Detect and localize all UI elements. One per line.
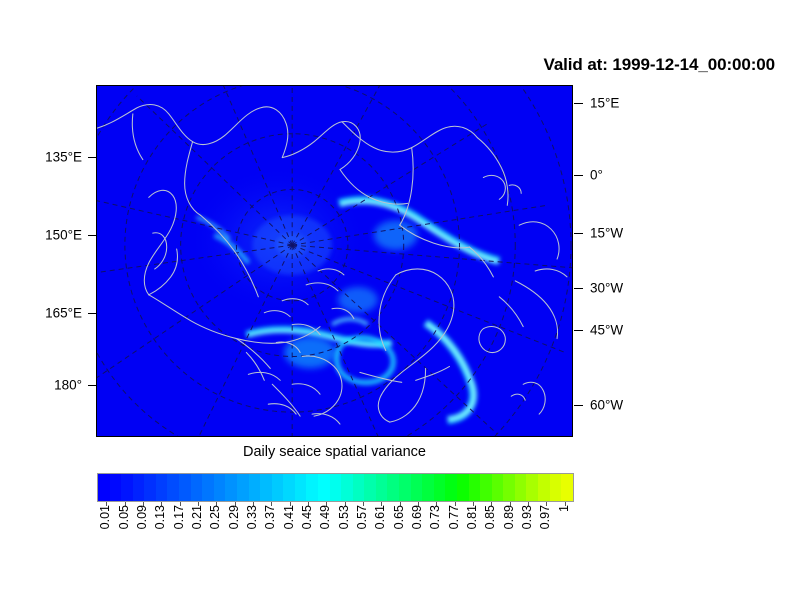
colorbar-tick-label: 0.41 — [283, 505, 296, 529]
colorbar-swatch — [283, 474, 295, 501]
colorbar-swatch — [550, 474, 562, 501]
colorbar-tick-label: 0.29 — [228, 505, 241, 529]
colorbar-swatch — [526, 474, 538, 501]
colorbar-swatch — [503, 474, 515, 501]
colorbar-swatch — [376, 474, 388, 501]
colorbar-swatch — [364, 474, 376, 501]
colorbar-tick-label: 0.97 — [539, 505, 552, 529]
axis-right-tick — [574, 405, 583, 406]
colorbar-swatch — [445, 474, 457, 501]
colorbar-tick-label: 0.77 — [448, 505, 461, 529]
colorbar-tick-label: 0.81 — [466, 505, 479, 529]
colorbar-tick-label: 0.21 — [191, 505, 204, 529]
colorbar-swatch — [295, 474, 307, 501]
axis-right-tick — [574, 103, 583, 104]
colorbar-swatch — [110, 474, 122, 501]
colorbar-swatch — [306, 474, 318, 501]
colorbar-swatch — [121, 474, 133, 501]
colorbar-tick-label: 0.49 — [319, 505, 332, 529]
colorbar-swatch — [318, 474, 330, 501]
colorbar-swatch — [457, 474, 469, 501]
colorbar-swatch — [515, 474, 527, 501]
colorbar-swatch — [260, 474, 272, 501]
axis-right-label: 15°E — [590, 96, 619, 110]
colorbar-tick-label: 0.17 — [173, 505, 186, 529]
colorbar-swatch — [353, 474, 365, 501]
axis-left-label: 180° — [0, 378, 82, 392]
map-canvas — [97, 86, 572, 436]
colorbar-tick-label: 0.53 — [338, 505, 351, 529]
axis-left-tick — [88, 157, 97, 158]
colorbar-tick-label: 0.65 — [393, 505, 406, 529]
axis-right-tick — [574, 330, 583, 331]
colorbar-swatch — [237, 474, 249, 501]
axis-left-label: 135°E — [0, 150, 82, 164]
colorbar-swatch — [492, 474, 504, 501]
colorbar-tick-label: 0.25 — [209, 505, 222, 529]
axis-right-tick — [574, 175, 583, 176]
colorbar-tick-label: 0.61 — [374, 505, 387, 529]
colorbar-swatch — [399, 474, 411, 501]
colorbar-swatch — [156, 474, 168, 501]
colorbar-swatch — [202, 474, 214, 501]
colorbar-swatch — [411, 474, 423, 501]
axis-right-label: 60°W — [590, 398, 623, 412]
colorbar-labels: 0.010.050.090.130.170.210.250.290.330.37… — [0, 505, 792, 575]
colorbar-swatch — [272, 474, 284, 501]
colorbar-tick-label: 0.37 — [264, 505, 277, 529]
colorbar-swatch — [214, 474, 226, 501]
axis-right-label: 45°W — [590, 323, 623, 337]
page-title: Valid at: 1999-12-14_00:00:00 — [455, 55, 775, 75]
colorbar-swatch — [330, 474, 342, 501]
map-plot-area[interactable] — [96, 85, 573, 437]
axis-right-label: 15°W — [590, 226, 623, 240]
colorbar-tick-label: 0.73 — [429, 505, 442, 529]
colorbar-tick-label: 0.05 — [118, 505, 131, 529]
colorbar-tick-label: 0.09 — [136, 505, 149, 529]
colorbar-swatch — [341, 474, 353, 501]
colorbar-swatch — [249, 474, 261, 501]
colorbar-swatch — [538, 474, 550, 501]
colorbar-swatch — [469, 474, 481, 501]
colorbar-tick-label: 0.57 — [356, 505, 369, 529]
colorbar-tick-label: 0.85 — [484, 505, 497, 529]
colorbar-swatch — [133, 474, 145, 501]
colorbar-swatch — [191, 474, 203, 501]
colorbar-tick-label: 0.69 — [411, 505, 424, 529]
colorbar-tick-label: 0.89 — [503, 505, 516, 529]
colorbar-swatch — [434, 474, 446, 501]
colorbar-swatch — [480, 474, 492, 501]
axis-left-label: 150°E — [0, 228, 82, 242]
colorbar-tick-label: 0.13 — [154, 505, 167, 529]
colorbar-swatch — [144, 474, 156, 501]
colorbar-tick-label: 0.93 — [521, 505, 534, 529]
colorbar-tick-label: 1 — [558, 505, 571, 512]
axis-left-tick — [88, 313, 97, 314]
colorbar-swatch — [422, 474, 434, 501]
axis-left-tick — [88, 235, 97, 236]
colorbar[interactable] — [97, 473, 574, 502]
axis-right-label: 30°W — [590, 281, 623, 295]
axis-left-tick — [88, 385, 97, 386]
colorbar-tick-label: 0.33 — [246, 505, 259, 529]
axis-right-tick — [574, 233, 583, 234]
colorbar-swatch — [167, 474, 179, 501]
colorbar-tick-label: 0.45 — [301, 505, 314, 529]
colorbar-gradient — [97, 473, 574, 502]
colorbar-tick-label: 0.01 — [99, 505, 112, 529]
colorbar-swatch — [387, 474, 399, 501]
colorbar-swatch — [561, 474, 573, 501]
axis-right-label: 0° — [590, 168, 603, 182]
colorbar-swatch — [225, 474, 237, 501]
plot-caption: Daily seaice spatial variance — [96, 444, 573, 460]
colorbar-swatch — [98, 474, 110, 501]
axis-left-label: 165°E — [0, 306, 82, 320]
plot-root: Valid at: 1999-12-14_00:00:00 — [0, 0, 792, 612]
axis-right-tick — [574, 288, 583, 289]
colorbar-swatch — [179, 474, 191, 501]
